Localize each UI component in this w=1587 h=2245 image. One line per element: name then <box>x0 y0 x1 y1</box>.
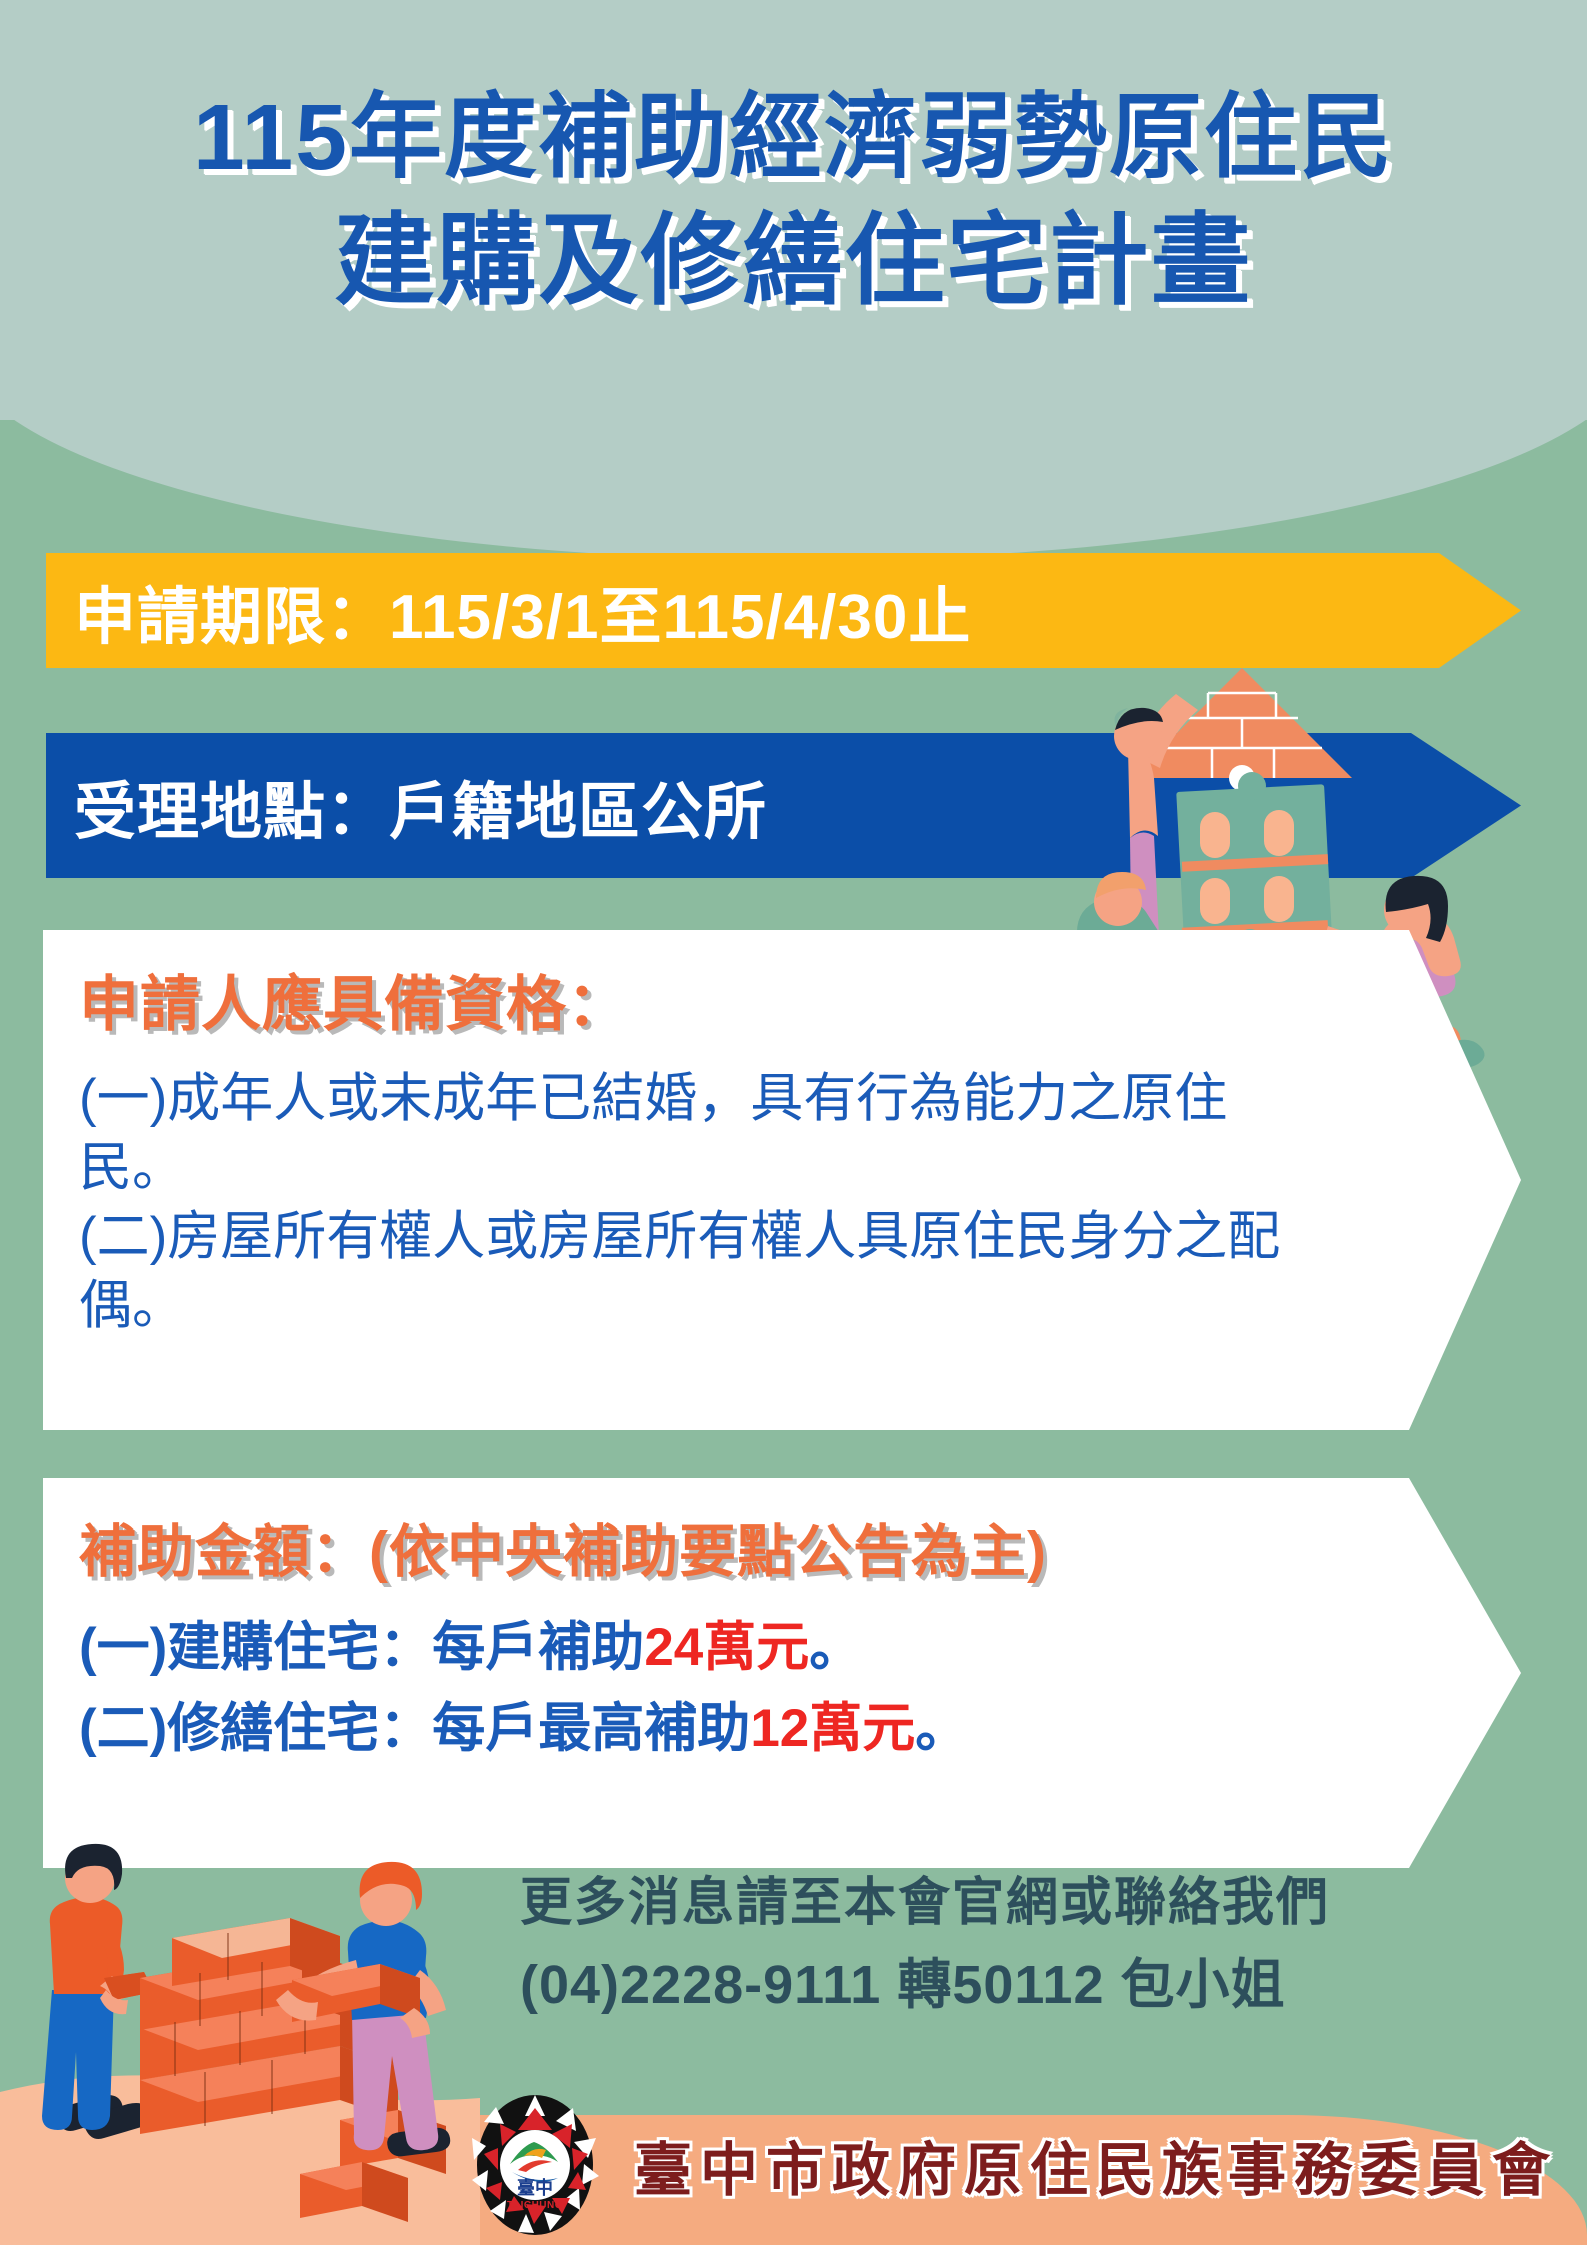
contact-line-1: 更多消息請至本會官網或聯絡我們 <box>520 1870 1540 1938</box>
deadline-text: 申請期限：115/3/1至115/4/30止 <box>74 566 971 656</box>
poster-title: 115年度補助經濟弱勢原住民 建購及修繕住宅計畫 <box>0 78 1587 325</box>
poster-root: 115年度補助經濟弱勢原住民 建購及修繕住宅計畫 申請期限：115/3/1至11… <box>0 0 1587 2245</box>
amount-item-1: (一)建購住宅：每戶補助24萬元。 <box>79 1614 1389 1683</box>
amount-item-2-value: 12萬元 <box>750 1699 915 1758</box>
amount-item-2-prefix: (二)修繕住宅：每戶最高補助 <box>79 1699 750 1758</box>
organization-name: 臺中市政府原住民族事務委員會 <box>634 2123 1558 2207</box>
qualification-item-1: (一)成年人或未成年已結婚，具有行為能力之原住民。 <box>79 1065 1309 1203</box>
qualification-panel: 申請人應具備資格： (一)成年人或未成年已結婚，具有行為能力之原住民。 (二)房… <box>43 930 1521 1430</box>
deadline-banner: 申請期限：115/3/1至115/4/30止 <box>46 553 1521 668</box>
logo-en-text: TAICHUNG <box>507 2200 563 2211</box>
brick-wall-illustration <box>0 1830 480 2245</box>
amount-item-1-prefix: (一)建購住宅：每戶補助 <box>79 1618 644 1677</box>
amount-item-2: (二)修繕住宅：每戶最高補助12萬元。 <box>79 1695 1389 1764</box>
contact-line-2[interactable]: (04)2228-9111 轉50112 包小姐 <box>520 1950 1540 2020</box>
taichung-city-logo: 臺中 TAICHUNG <box>460 2090 610 2240</box>
footer-organization: 臺中 TAICHUNG 臺中市政府原住民族事務委員會 <box>460 2090 1558 2240</box>
amount-item-1-suffix: 。 <box>809 1618 862 1677</box>
location-text: 受理地點：戶籍地區公所 <box>74 761 767 851</box>
amount-panel: 補助金額：(依中央補助要點公告為主) (一)建購住宅：每戶補助24萬元。 (二)… <box>43 1478 1521 1868</box>
qualification-heading: 申請人應具備資格： <box>79 956 1309 1043</box>
title-line-2: 建購及修繕住宅計畫 <box>0 197 1587 325</box>
amount-heading: 補助金額：(依中央補助要點公告為主) <box>79 1506 1389 1588</box>
amount-item-1-value: 24萬元 <box>644 1618 809 1677</box>
contact-block: 更多消息請至本會官網或聯絡我們 (04)2228-9111 轉50112 包小姐 <box>520 1870 1540 2020</box>
qualification-item-2: (二)房屋所有權人或房屋所有權人具原住民身分之配偶。 <box>79 1203 1309 1341</box>
amount-item-2-suffix: 。 <box>915 1699 968 1758</box>
title-line-1: 115年度補助經濟弱勢原住民 <box>0 78 1587 197</box>
logo-cn-text: 臺中 <box>517 2177 553 2198</box>
